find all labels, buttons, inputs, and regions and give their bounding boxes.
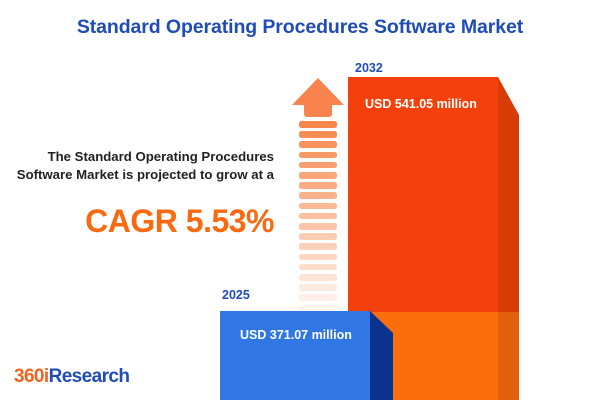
brand-logo: 360iResearch: [14, 366, 129, 388]
up-arrow-icon: [288, 78, 348, 288]
arrow-segment: [299, 233, 337, 240]
page-title: Standard Operating Procedures Software M…: [0, 16, 600, 39]
arrow-head-shape: [292, 78, 344, 105]
arrow-segment: [299, 162, 337, 169]
arrow-segment: [299, 243, 337, 250]
arrow-segment: [299, 172, 337, 179]
bar-label-year-2032: 2032: [355, 61, 383, 75]
arrow-segment: [299, 203, 337, 210]
arrow-segment: [299, 152, 337, 159]
bar-value-2025: USD 371.07 million: [240, 328, 352, 342]
bar-label-year-2025: 2025: [222, 288, 250, 302]
bar-2032-side-lower-wash: [498, 312, 519, 400]
arrow-segment: [299, 294, 337, 301]
bar-2025-front-face: [220, 311, 370, 400]
arrow-segment: [299, 121, 337, 128]
logo-text-primary: 360i: [14, 366, 49, 387]
bar-value-2032: USD 541.05 million: [365, 97, 477, 111]
arrow-segment: [299, 264, 337, 271]
arrow-neck-shape: [304, 104, 332, 117]
growth-statement: The Standard Operating Procedures Softwa…: [12, 148, 274, 183]
arrow-segment: [299, 192, 337, 199]
arrow-segment: [299, 274, 337, 281]
arrow-segment: [299, 141, 337, 148]
arrow-segment: [299, 182, 337, 189]
arrow-segment: [299, 284, 337, 291]
arrow-segment: [299, 131, 337, 138]
logo-text-secondary: Research: [49, 366, 130, 387]
arrow-segment: [299, 223, 337, 230]
cagr-value: CAGR 5.53%: [12, 203, 274, 240]
arrow-segment: [299, 254, 337, 261]
infographic-canvas: Standard Operating Procedures Software M…: [0, 0, 600, 400]
arrow-segment: [299, 213, 337, 220]
